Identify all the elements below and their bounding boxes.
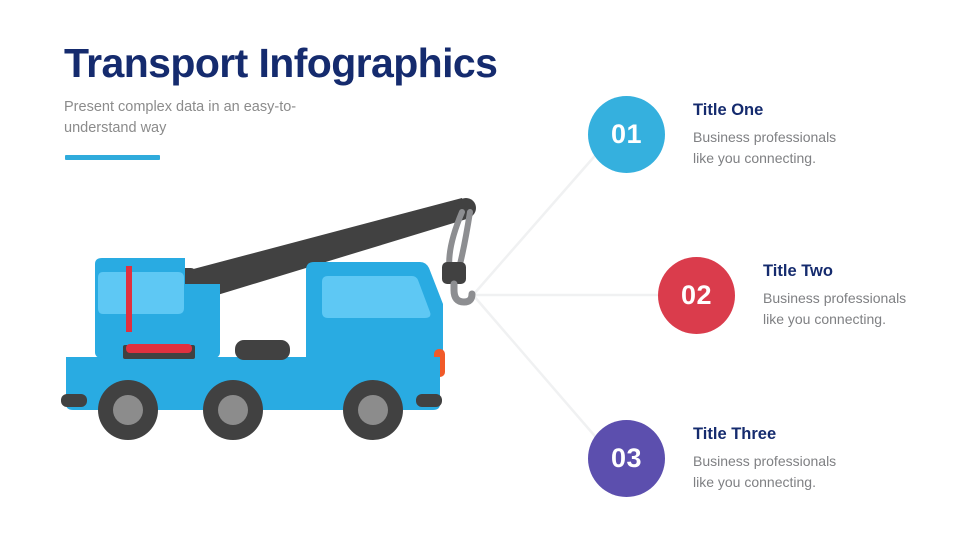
- item-title-03: Title Three: [693, 425, 836, 444]
- item-title-01: Title One: [693, 101, 836, 120]
- item-title-02: Title Two: [763, 262, 906, 281]
- wheel-middle: [203, 380, 263, 440]
- crane-hook-icon: [454, 284, 472, 302]
- slide-canvas: Transport Infographics Present complex d…: [0, 0, 980, 551]
- rear-bumper: [61, 394, 87, 407]
- info-item-01[interactable]: 01 Title One Business professionals like…: [588, 96, 836, 173]
- badge-01[interactable]: 01: [588, 96, 665, 173]
- item-desc-02-line1: Business professionals: [763, 288, 906, 308]
- cabin-red-stripe: [126, 344, 192, 353]
- item-desc-01-line1: Business professionals: [693, 127, 836, 147]
- badge-number: 01: [611, 119, 642, 150]
- item-desc-02-line2: like you connecting.: [763, 309, 906, 329]
- truck-cab: [306, 262, 443, 372]
- badge-03[interactable]: 03: [588, 420, 665, 497]
- info-item-02[interactable]: 02 Title Two Business professionals like…: [658, 257, 906, 334]
- badge-number: 03: [611, 443, 642, 474]
- item-desc-03-line2: like you connecting.: [693, 472, 836, 492]
- wheel-rear: [98, 380, 158, 440]
- item-text-01: Title One Business professionals like yo…: [693, 101, 836, 168]
- info-item-03[interactable]: 03 Title Three Business professionals li…: [588, 420, 836, 497]
- item-text-02: Title Two Business professionals like yo…: [763, 262, 906, 329]
- badge-number: 02: [681, 280, 712, 311]
- toolbox-icon: [235, 340, 290, 360]
- front-bumper: [416, 394, 442, 407]
- item-desc-01-line2: like you connecting.: [693, 148, 836, 168]
- badge-02[interactable]: 02: [658, 257, 735, 334]
- item-desc-03-line1: Business professionals: [693, 451, 836, 471]
- item-text-03: Title Three Business professionals like …: [693, 425, 836, 492]
- wheel-front: [343, 380, 403, 440]
